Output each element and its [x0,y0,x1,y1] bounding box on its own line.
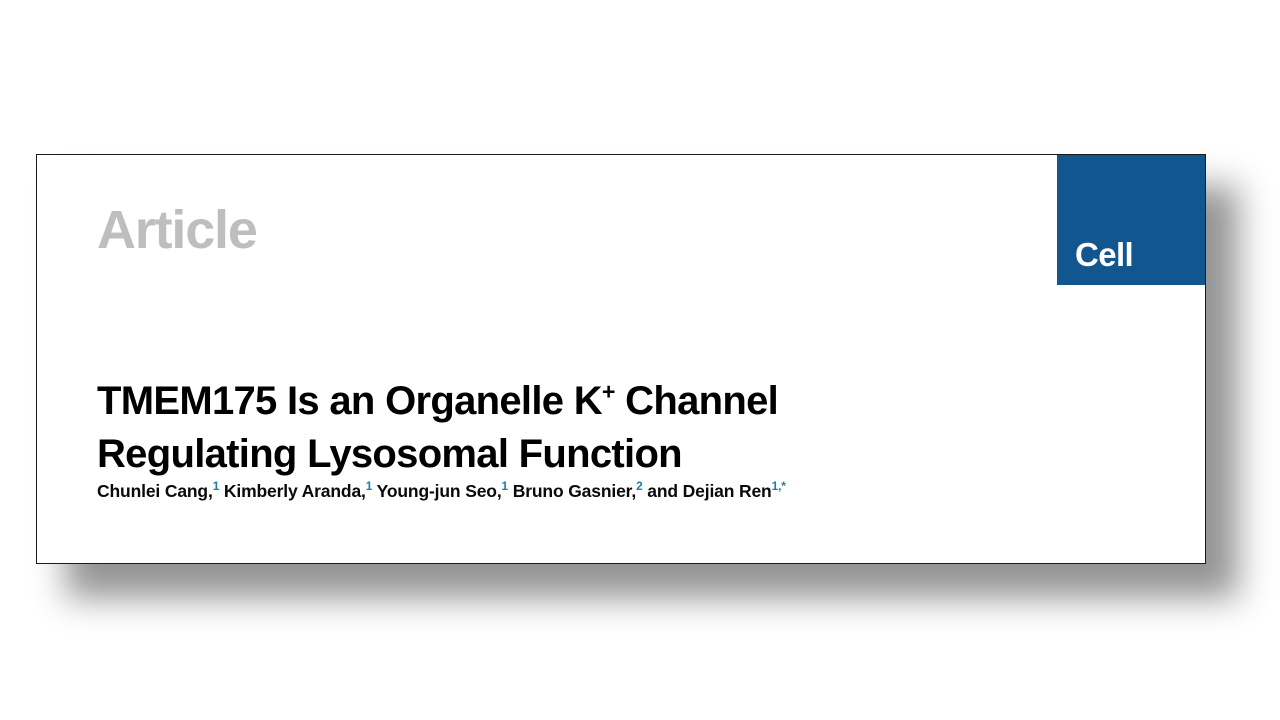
journal-logo-block: Cell [1057,155,1205,285]
title-line2: Regulating Lysosomal Function [97,432,682,476]
author-name: Bruno Gasnier, [513,481,636,501]
author-name: Kimberly Aranda, [224,481,366,501]
author-list: Chunlei Cang,1 Kimberly Aranda,1 Young-j… [97,480,1117,503]
screenshot-canvas: Article Cell TMEM175 Is an Organelle K+ … [0,0,1280,720]
title-line1-part1: TMEM175 Is an Organelle K [97,379,602,423]
author-entry: Kimberly Aranda,1 [224,481,372,501]
author-entry: Dejian Ren1,* [683,481,786,501]
author-entry: Young-jun Seo,1 [377,481,508,501]
author-name: Chunlei Cang, [97,481,213,501]
article-page-card: Article Cell TMEM175 Is an Organelle K+ … [36,154,1206,564]
journal-name-label: Cell [1075,238,1133,271]
author-separator: and [643,481,683,501]
title-line1-part2: Channel [615,379,778,423]
author-entry: Chunlei Cang,1 [97,481,219,501]
corresponding-author-marker: 1,* [772,479,786,493]
title-superscript-plus: + [602,378,615,404]
page-title: TMEM175 Is an Organelle K+ Channel Regul… [97,375,1047,481]
author-name: Young-jun Seo, [377,481,502,501]
author-name: Dejian Ren [683,481,772,501]
article-type-kicker: Article [97,203,257,257]
author-entry: Bruno Gasnier,2 [513,481,643,501]
